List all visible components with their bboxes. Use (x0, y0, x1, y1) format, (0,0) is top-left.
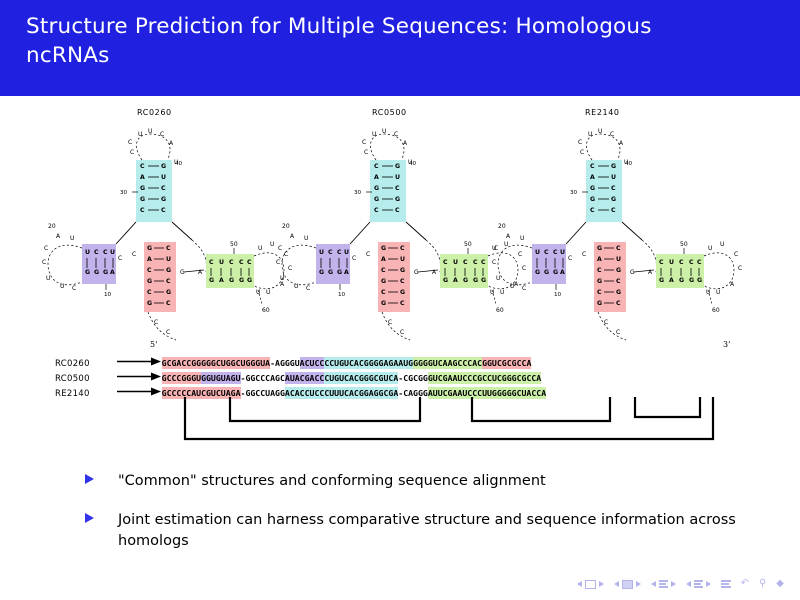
base-pairing-brackets (0, 395, 800, 455)
next-subsection-icon[interactable] (671, 581, 676, 587)
back-icon[interactable]: ↶ (741, 579, 749, 589)
slide-title-line-1: Structure Prediction for Multiple Sequen… (26, 12, 774, 41)
subsection-indicator-icon[interactable] (659, 580, 668, 588)
bullet-text: "Common" structures and conforming seque… (118, 473, 546, 489)
rna-diagram-label-3: RE2140 (585, 108, 620, 117)
slide-title-bar: Structure Prediction for Multiple Sequen… (0, 0, 800, 96)
alignment-row: RE2140 GCCCCCAUCGUCUAGA-GGCCUAGGACACCUCC… (55, 381, 546, 394)
five-prime-marker: 5' (150, 340, 157, 349)
three-prime-marker: 3' (723, 340, 730, 349)
alignment-row: RC0260 GCGACCGGGGGCUGGCUGGGUA-AGGGUACUCC… (55, 351, 531, 364)
next-section-icon[interactable] (706, 581, 711, 587)
slide-title-line-2: ncRNAs (26, 41, 774, 70)
list-item: "Common" structures and conforming seque… (0, 470, 800, 491)
prev-section-icon[interactable] (686, 581, 691, 587)
rna-structure-3 (492, 128, 742, 340)
bullet-text: Joint estimation can harness comparative… (118, 512, 736, 549)
rna-diagram-label-2: RC0500 (372, 108, 407, 117)
nav-group-section[interactable] (686, 580, 711, 588)
nav-group-frame[interactable] (614, 580, 641, 589)
alignment-row: RC0500 GCCCGGGUGGUGUAGU-GGCCCAGCAUACGACC… (55, 366, 541, 379)
nav-group-slide[interactable] (577, 580, 604, 589)
end-icon[interactable]: ◆ (776, 579, 784, 589)
alignment-arrow-icon (117, 357, 162, 366)
prev-subsection-icon[interactable] (651, 581, 656, 587)
triangle-bullet-icon (85, 474, 94, 484)
next-frame-icon[interactable] (636, 581, 641, 587)
sequence-alignment-block: 5' 3' RC0260 GCGACCGGGGGCUGGCUGGGUA-AGGG… (0, 340, 800, 450)
next-slide-icon[interactable] (599, 581, 604, 587)
alignment-arrow-icon (117, 372, 162, 381)
rna-diagram-label-1: RC0260 (137, 108, 172, 117)
prev-frame-icon[interactable] (614, 581, 619, 587)
triangle-bullet-icon (85, 513, 94, 523)
prev-slide-icon[interactable] (577, 581, 582, 587)
bullet-list: "Common" structures and conforming seque… (0, 470, 800, 569)
nav-group-subsection[interactable] (651, 580, 676, 588)
frame-indicator-icon[interactable] (622, 580, 633, 589)
rna-structure-2 (276, 128, 526, 340)
section-indicator-icon[interactable] (694, 580, 703, 588)
beamer-navigation-bar[interactable]: ↶ ⚲ ◆ (577, 576, 784, 592)
slide-indicator-icon[interactable] (585, 580, 596, 589)
rna-secondary-structure-drawings: CG AU GC GG CC CC UU CA U (0, 120, 800, 370)
list-item: Joint estimation can harness comparative… (0, 509, 800, 551)
search-icon[interactable]: ⚲ (759, 579, 766, 589)
rna-structure-1 (42, 128, 292, 340)
toc-icon[interactable] (721, 580, 731, 588)
